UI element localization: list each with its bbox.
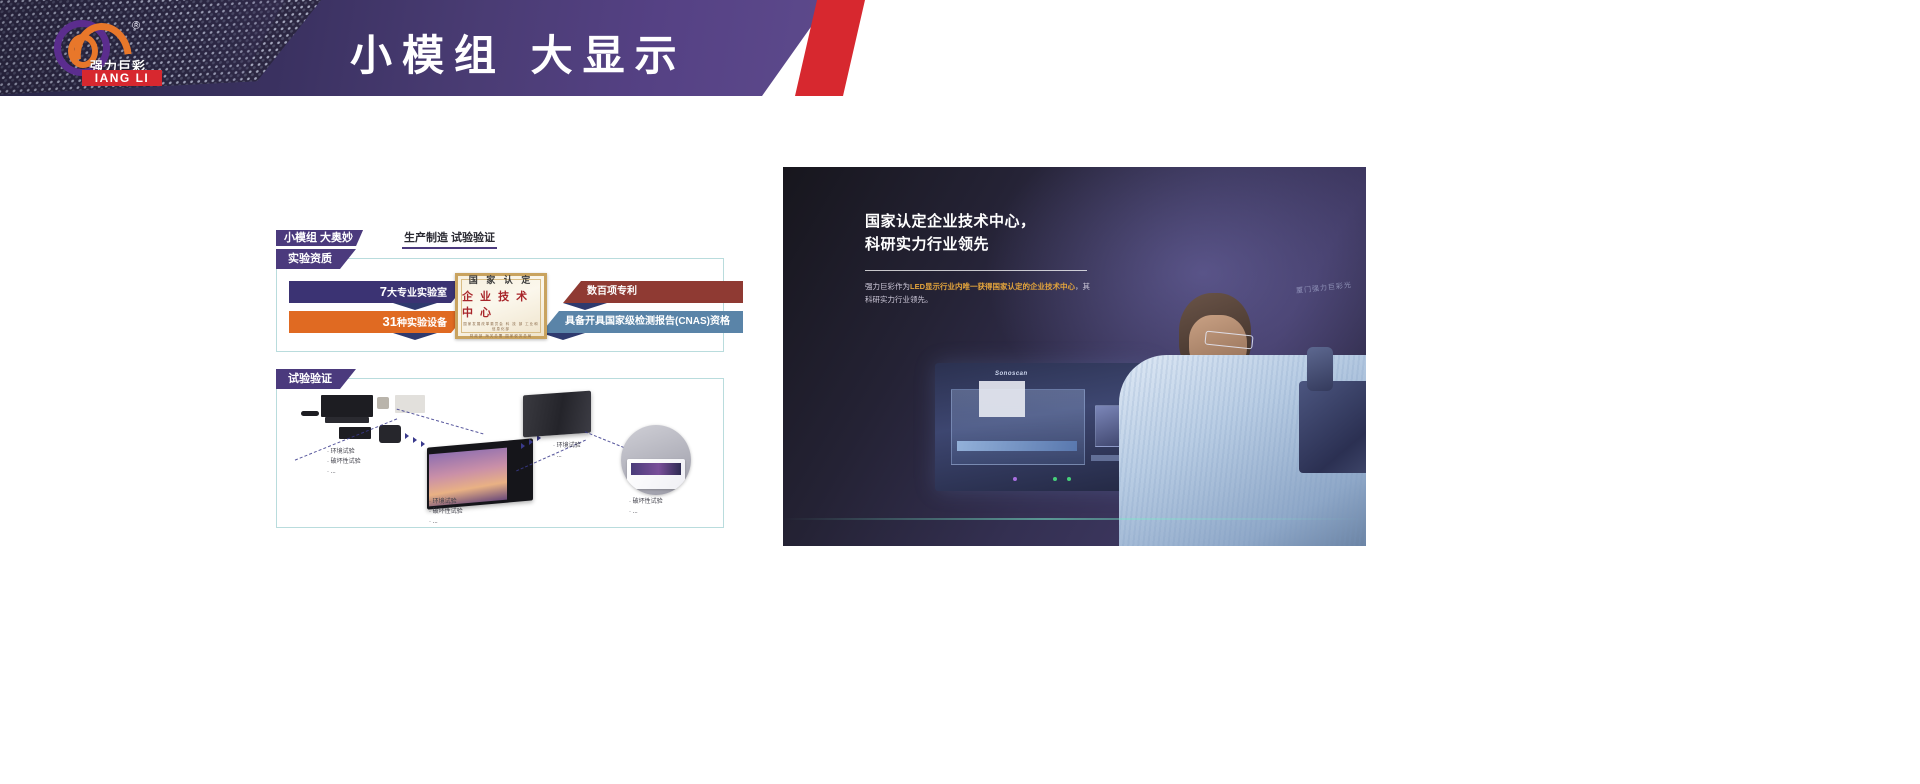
qualifications-tab: 实验资质 (276, 249, 356, 269)
machine-led-green-1 (1053, 477, 1057, 481)
stage-2-item-3: ... (429, 517, 463, 527)
qualifications-card: 实验资质 7大专业实验室 31种实验设备 数百项专利 具备开具国家级检测报告(C… (276, 258, 724, 352)
certificate-line-4: 财政部 海关总署 国家税务总局 (470, 334, 532, 339)
qualification-arrow-1: 7大专业实验室 (289, 281, 469, 303)
qualification-arrow-2-shadow (393, 333, 437, 340)
certificate-inner: 国 家 认 定 企 业 技 术 中 心 国家发展改革委员会 科 技 部 工业和信… (461, 279, 541, 333)
stage-1-item-1: 环境试验 (327, 447, 361, 457)
microscope-body (1299, 381, 1366, 473)
right-panel-title-line2: 科研实力行业领先 (865, 233, 1165, 256)
flow-line-2 (397, 409, 484, 435)
ic-chip (339, 427, 371, 439)
tests-card: 试验验证 (276, 378, 724, 528)
microscope-eyepiece (1307, 347, 1333, 391)
qualification-arrow-3-shadow (563, 303, 607, 310)
qualification-arrow-4: 具备开具国家级检测报告(CNAS)资格 (541, 311, 743, 333)
banner-title: 小模组 大显示 (350, 22, 687, 83)
machine-led-green-2 (1067, 477, 1071, 481)
floor-glow-line (783, 518, 1366, 520)
smd-component (379, 425, 401, 443)
national-certificate-plaque: 国 家 认 定 企 业 技 术 中 心 国家发展改革委员会 科 技 部 工业和信… (455, 273, 547, 339)
qualification-arrow-2-text: 种实验设备 (397, 318, 447, 329)
left-infographic-panel: 小模组 大奥妙 生产制造 试验验证 实验资质 7大专业实验室 31种实验设备 数… (276, 230, 724, 520)
company-logo[interactable]: ® 强力巨彩 IANG LI (46, 14, 162, 84)
flow-arrow-5 (529, 439, 533, 445)
machine-scan-bed (957, 441, 1077, 451)
right-photo-panel: 国家认定企业技术中心， 科研实力行业领先 强力巨彩作为LED显示行业内唯一获得国… (783, 167, 1366, 546)
stage-2-item-2: 破坏性试验 (429, 507, 463, 517)
screw-icon (301, 411, 319, 416)
registered-mark: ® (132, 20, 140, 32)
stage-4-item-1: 破坏性试验 (629, 497, 663, 507)
test-labels-stage-3: 环境试验 ... (553, 441, 581, 461)
stage-2-item-1: 环境试验 (429, 497, 463, 507)
led-lamp-bead (377, 397, 389, 409)
qualification-arrow-3-text: 数百项专利 (587, 286, 637, 297)
stage-4-item-2: ... (629, 507, 663, 517)
body-prefix: 强力巨彩作为 (865, 282, 910, 291)
engineer-photo (1113, 293, 1366, 546)
certificate-line-2: 企 业 技 术 中 心 (462, 288, 540, 320)
flow-arrow-4 (521, 443, 525, 449)
certificate-line-1: 国 家 认 定 (469, 273, 534, 286)
qualification-arrow-2-num: 31 (383, 314, 397, 329)
qualification-arrow-1-shadow (393, 303, 437, 310)
machine-brand-label: Sonoscan (995, 371, 1028, 377)
logo-english-name: IANG LI (82, 70, 162, 86)
qualification-arrow-4-shadow (541, 333, 585, 340)
test-labels-stage-4: 破坏性试验 ... (629, 497, 663, 517)
section-header: 小模组 大奥妙 生产制造 试验验证 (276, 230, 724, 246)
connector-pins (325, 417, 369, 423)
right-panel-body: 强力巨彩作为LED显示行业内唯一获得国家认定的企业技术中心，其科研实力行业领先。 (865, 280, 1091, 306)
section-header-subtitle: 生产制造 试验验证 (402, 230, 497, 249)
product-card (627, 459, 685, 489)
machine-led-purple (1013, 477, 1017, 481)
stage-1-item-2: 破坏性试验 (327, 457, 361, 467)
flow-arrow-1 (405, 433, 409, 439)
stage-3-item-2: ... (553, 451, 581, 461)
certificate-line-3: 国家发展改革委员会 科 技 部 工业和信息化部 (462, 322, 540, 333)
right-panel-divider (865, 270, 1087, 271)
connector-large (321, 395, 373, 417)
test-labels-stage-1: 环境试验 破坏性试验 ... (327, 447, 361, 478)
right-panel-title: 国家认定企业技术中心， 科研实力行业领先 (865, 210, 1165, 257)
led-cabinet (523, 391, 591, 438)
flow-arrow-3 (421, 441, 425, 447)
right-panel-title-line1: 国家认定企业技术中心， (865, 210, 1165, 233)
qualification-arrow-1-num: 7 (380, 284, 387, 299)
qualification-arrow-1-text: 大专业实验室 (387, 288, 447, 299)
machine-paper-sheet (979, 381, 1025, 417)
finished-product-circle (621, 425, 691, 495)
qualification-arrow-2: 31种实验设备 (289, 311, 469, 333)
section-header-tag: 小模组 大奥妙 (276, 230, 363, 246)
body-highlight: LED显示行业内唯一获得国家认定的企业技术中心 (910, 282, 1075, 291)
product-card-strip (631, 463, 681, 475)
qualification-arrow-3: 数百项专利 (563, 281, 743, 303)
qualification-arrow-4-text: 具备开具国家级检测报告(CNAS)资格 (565, 316, 730, 327)
stage-3-item-1: 环境试验 (553, 441, 581, 451)
test-labels-stage-2: 环境试验 破坏性试验 ... (429, 497, 463, 528)
test-flow-diagram: 环境试验 破坏性试验 ... 环境试验 破坏性试验 ... 环境试验 ... (277, 379, 723, 527)
flow-arrow-2 (413, 437, 417, 443)
header-banner: ® 强力巨彩 IANG LI 小模组 大显示 (0, 0, 1920, 96)
stage-1-item-3: ... (327, 467, 361, 477)
